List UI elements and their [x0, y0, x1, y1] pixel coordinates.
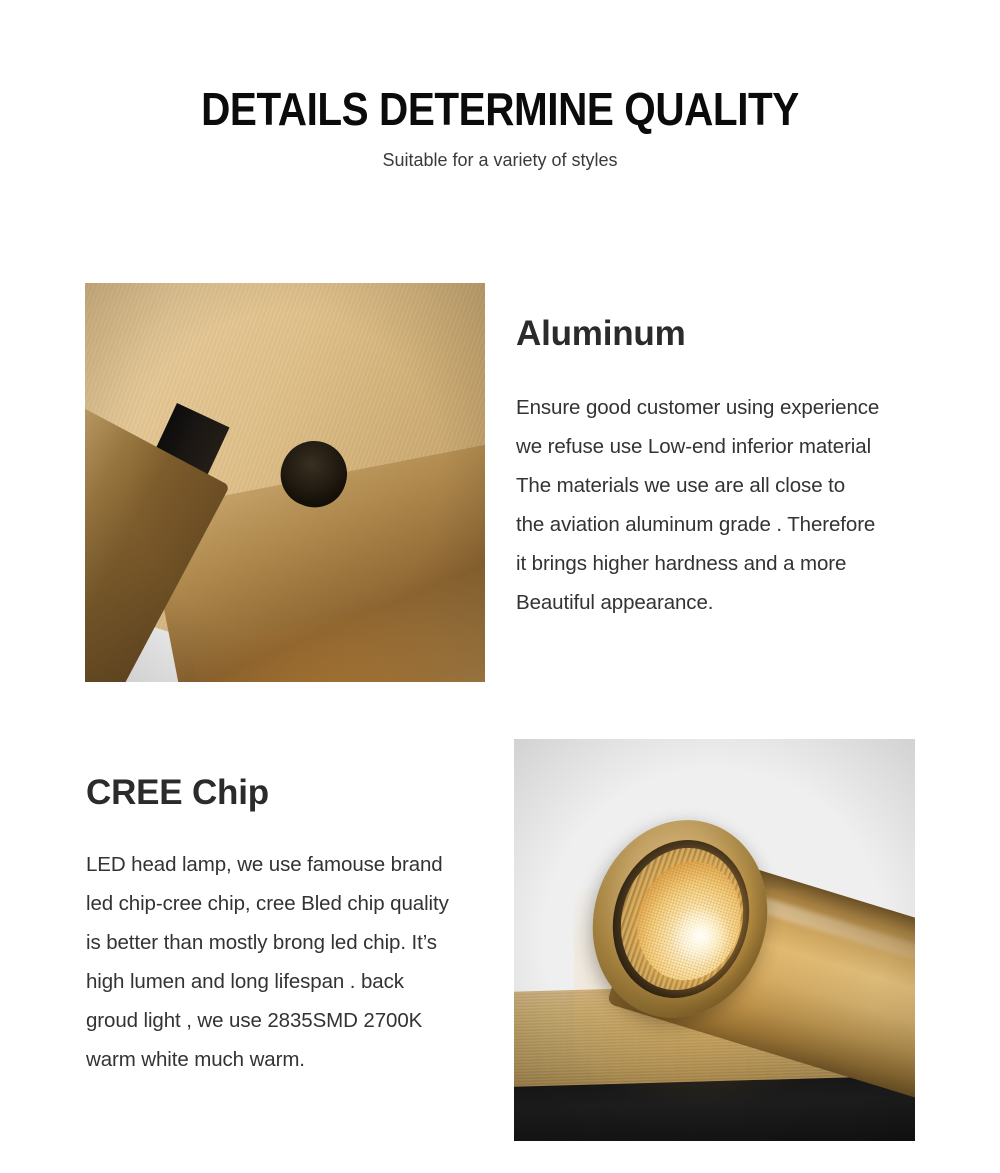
cree-chip-product-photo — [514, 739, 915, 1141]
cree-line-1: LED head lamp, we use famouse brand — [86, 845, 506, 884]
photo-vignette — [514, 739, 915, 1141]
cree-chip-heading: CREE Chip — [86, 772, 269, 814]
aluminum-line-3: The materials we use are all close to — [516, 466, 936, 505]
page-subtitle: Suitable for a variety of styles — [0, 148, 1000, 172]
cree-line-2: led chip-cree chip, cree Bled chip quali… — [86, 884, 506, 923]
aluminum-description: Ensure good customer using experience we… — [516, 388, 936, 622]
aluminum-product-photo — [85, 283, 485, 682]
aluminum-heading: Aluminum — [516, 313, 686, 355]
cree-chip-description: LED head lamp, we use famouse brand led … — [86, 845, 506, 1079]
cree-line-5: groud light , we use 2835SMD 2700K — [86, 1001, 506, 1040]
product-detail-page: DETAILS DETERMINE QUALITY Suitable for a… — [0, 0, 1000, 1173]
cree-line-4: high lumen and long lifespan . back — [86, 962, 506, 1001]
aluminum-line-6: Beautiful appearance. — [516, 583, 936, 622]
aluminum-line-4: the aviation aluminum grade . Therefore — [516, 505, 936, 544]
aluminum-line-5: it brings higher hardness and a more — [516, 544, 936, 583]
aluminum-line-2: we refuse use Low-end inferior material — [516, 427, 936, 466]
aluminum-line-1: Ensure good customer using experience — [516, 388, 936, 427]
page-title: DETAILS DETERMINE QUALITY — [60, 84, 940, 134]
photo-vignette — [85, 283, 485, 682]
cree-line-6: warm white much warm. — [86, 1040, 506, 1079]
cree-line-3: is better than mostly brong led chip. It… — [86, 923, 506, 962]
